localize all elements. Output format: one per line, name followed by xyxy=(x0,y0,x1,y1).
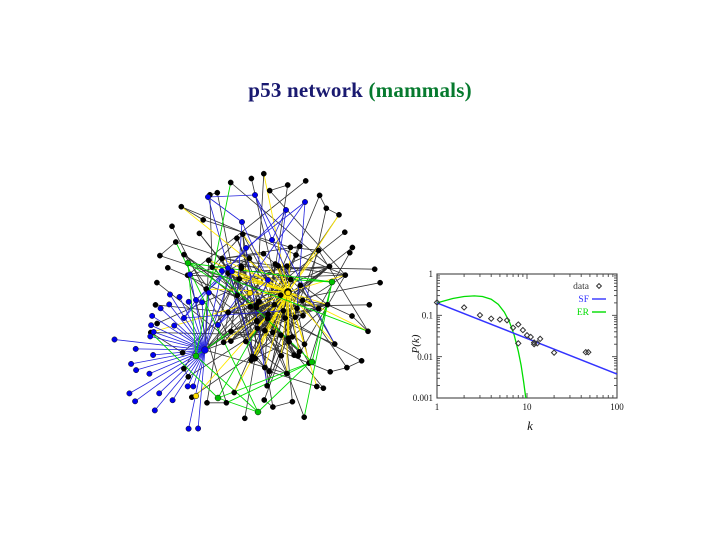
plot-xlabel: k xyxy=(527,418,533,433)
network-node xyxy=(309,359,315,365)
network-node xyxy=(254,318,259,323)
network-node xyxy=(204,400,209,405)
network-node xyxy=(302,199,307,204)
network-node xyxy=(186,299,191,304)
network-edges-black xyxy=(151,174,380,419)
network-node xyxy=(220,256,225,261)
network-node xyxy=(297,244,302,249)
network-node xyxy=(261,171,266,176)
plot-frame xyxy=(437,274,617,398)
network-node xyxy=(303,178,308,183)
network-node xyxy=(197,231,202,236)
network-node xyxy=(226,310,231,315)
network-node xyxy=(228,329,233,334)
network-node xyxy=(262,397,267,402)
network-node xyxy=(232,390,237,395)
network-node xyxy=(293,315,298,320)
network-node xyxy=(195,426,200,431)
network-node xyxy=(283,316,288,321)
plot-xtick-labels: 110100 xyxy=(435,402,625,412)
network-node xyxy=(262,328,267,333)
network-node xyxy=(288,277,293,282)
network-node xyxy=(269,237,274,242)
page-title: p53 network (mammals) xyxy=(0,78,720,103)
network-node xyxy=(265,277,270,282)
network-node xyxy=(181,252,186,257)
network-node xyxy=(252,192,257,197)
network-node xyxy=(272,302,277,307)
network-node xyxy=(237,276,242,281)
network-node xyxy=(228,339,233,344)
network-node xyxy=(344,365,349,370)
network-node xyxy=(201,217,206,222)
network-node xyxy=(133,346,138,351)
network-node xyxy=(199,300,204,305)
slide-canvas: p53 network (mammals) 10.10.010.001 1101… xyxy=(0,0,720,540)
network-node xyxy=(112,337,117,342)
network-node xyxy=(290,334,295,339)
network-node xyxy=(255,326,260,331)
network-node xyxy=(153,302,158,307)
network-node xyxy=(265,383,270,388)
degree-distribution-plot: 10.10.010.001 110100 dataSFER P(k) k xyxy=(405,258,635,438)
network-node xyxy=(278,333,283,338)
network-node xyxy=(255,409,261,415)
network-node xyxy=(185,384,190,389)
network-node xyxy=(147,371,152,376)
network-node xyxy=(221,340,226,345)
network-node xyxy=(302,342,307,347)
network-node xyxy=(148,323,153,328)
network-node xyxy=(378,280,383,285)
network-node xyxy=(239,266,244,271)
network-node xyxy=(169,224,174,229)
network-node xyxy=(293,252,298,257)
network-node xyxy=(180,350,185,355)
network-node xyxy=(132,399,137,404)
network-node xyxy=(359,358,364,363)
network-node xyxy=(336,212,341,217)
network-node xyxy=(202,347,209,354)
network-node xyxy=(248,304,253,309)
network-node xyxy=(283,207,288,212)
network-node xyxy=(276,263,281,268)
network-node xyxy=(317,193,322,198)
network-node xyxy=(249,176,254,181)
network-node xyxy=(235,293,240,298)
network-node xyxy=(300,313,305,318)
network-node xyxy=(347,250,352,255)
network-node xyxy=(224,400,229,405)
network-node xyxy=(267,188,272,193)
network-node xyxy=(298,283,303,288)
network-node xyxy=(240,232,245,237)
plot-ylabel: P(k) xyxy=(410,334,422,354)
network-node xyxy=(328,369,333,374)
network-node xyxy=(225,265,230,270)
network-node xyxy=(193,297,198,302)
network-node xyxy=(191,384,196,389)
network-node xyxy=(215,190,220,195)
network-node xyxy=(270,330,275,335)
plot-ytick-label: 0.001 xyxy=(413,393,433,403)
network-node xyxy=(181,315,186,320)
title-sub: (mammals) xyxy=(368,78,471,102)
network-graph xyxy=(100,150,400,450)
network-node xyxy=(150,352,155,357)
network-node xyxy=(154,280,159,285)
network-node xyxy=(128,361,133,366)
network-node xyxy=(193,393,199,399)
network-node xyxy=(152,408,157,413)
network-node xyxy=(256,299,261,304)
network-node xyxy=(332,341,337,346)
network-graph-panel xyxy=(100,150,400,450)
network-node xyxy=(181,366,186,371)
network-node xyxy=(267,369,272,374)
network-node xyxy=(324,206,329,211)
network-node xyxy=(262,365,267,370)
network-node xyxy=(270,404,275,409)
network-node xyxy=(172,323,177,328)
legend-label-SF: SF xyxy=(578,295,589,305)
network-node xyxy=(155,321,160,326)
network-node xyxy=(177,294,182,299)
network-node xyxy=(228,180,233,185)
network-node xyxy=(158,306,163,311)
network-node xyxy=(265,316,270,321)
network-node xyxy=(186,374,191,379)
network-node xyxy=(167,302,172,307)
network-node xyxy=(170,398,175,403)
title-main: p53 network xyxy=(248,78,363,102)
plot-xtick-label: 10 xyxy=(523,402,533,412)
network-node xyxy=(316,248,321,253)
plot-xtick-label: 100 xyxy=(610,402,624,412)
network-node xyxy=(242,416,247,421)
network-node xyxy=(249,358,254,363)
network-node xyxy=(149,313,154,318)
network-node xyxy=(296,353,301,358)
plot-ytick-label: 0.1 xyxy=(422,311,433,321)
network-node xyxy=(300,298,305,303)
network-node xyxy=(206,258,211,263)
network-node xyxy=(215,395,221,401)
network-node xyxy=(173,239,178,244)
network-node xyxy=(127,391,132,396)
legend-label-ER: ER xyxy=(577,308,590,318)
network-node xyxy=(321,386,326,391)
network-node xyxy=(365,329,370,334)
network-node xyxy=(193,353,199,359)
network-node xyxy=(350,245,355,250)
network-node xyxy=(210,265,215,270)
network-node xyxy=(243,245,248,250)
network-node xyxy=(367,302,372,307)
network-node xyxy=(157,391,162,396)
network-node xyxy=(342,230,347,235)
network-node xyxy=(261,251,266,256)
network-node xyxy=(247,256,252,261)
network-node xyxy=(278,293,283,298)
network-node xyxy=(349,313,354,318)
legend-label-data: data xyxy=(573,282,590,292)
network-node xyxy=(243,339,248,344)
network-node xyxy=(284,371,289,376)
network-node xyxy=(294,306,299,311)
network-node xyxy=(234,236,239,241)
network-node xyxy=(288,245,293,250)
network-node xyxy=(157,253,162,258)
network-node xyxy=(316,306,321,311)
network-node xyxy=(329,279,335,285)
network-node xyxy=(302,415,307,420)
network-node xyxy=(279,353,284,358)
network-node xyxy=(285,182,290,187)
plot-ytick-label: 1 xyxy=(429,269,434,279)
network-node xyxy=(372,267,377,272)
network-nodes xyxy=(112,171,383,431)
network-node xyxy=(206,290,211,295)
network-node xyxy=(343,273,348,278)
network-node xyxy=(247,290,253,296)
degree-distribution-plot-panel: 10.10.010.001 110100 dataSFER P(k) k xyxy=(405,258,635,438)
network-node xyxy=(285,290,291,296)
network-node xyxy=(281,308,286,313)
network-node xyxy=(314,384,319,389)
network-node xyxy=(239,219,244,224)
network-node xyxy=(327,264,332,269)
network-node xyxy=(165,265,170,270)
network-node xyxy=(133,367,138,372)
network-node xyxy=(205,194,210,199)
network-node xyxy=(284,264,289,269)
plot-xtick-label: 1 xyxy=(435,402,440,412)
network-node xyxy=(186,426,191,431)
network-node xyxy=(325,302,330,307)
network-node xyxy=(219,268,224,273)
network-node xyxy=(151,329,156,334)
network-node xyxy=(290,399,295,404)
network-node xyxy=(187,272,192,277)
network-node xyxy=(185,260,191,266)
network-node xyxy=(215,322,220,327)
network-node xyxy=(179,204,184,209)
network-node xyxy=(167,292,172,297)
